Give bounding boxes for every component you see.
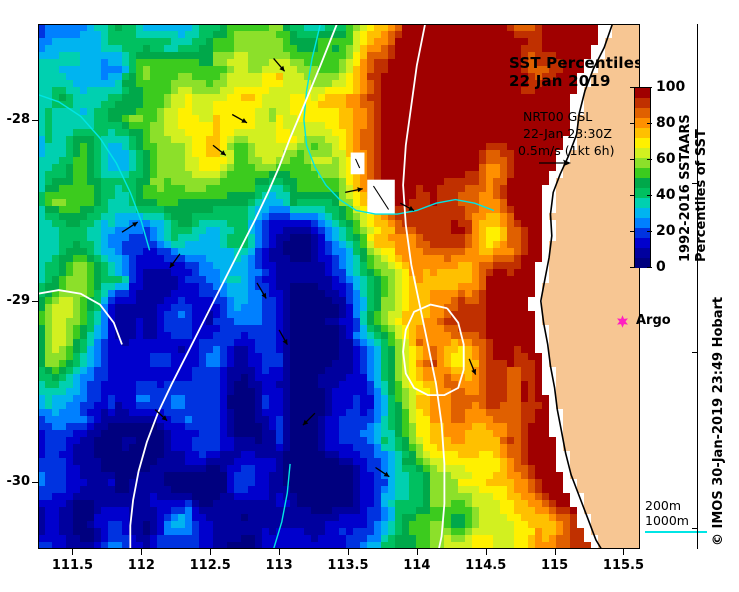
y-axis-tick [32,482,38,483]
colorbar-tick [630,159,635,160]
coastline [541,24,613,549]
colorbar-tick-label: 60 [656,151,675,167]
colorbar-tick-label: 0 [656,259,666,275]
colorbar-tick-label: 100 [656,79,685,95]
contour-1000m [304,24,494,214]
colorbar-segment [635,218,650,228]
colorbar-segment [635,168,650,178]
contour-200m [403,24,444,549]
y-axis-tick-label: -28 [0,112,30,127]
x-axis-tick-label: 113.5 [318,558,378,573]
colorbar-tick-label: 80 [656,115,675,131]
contour-1000m [38,95,150,251]
y-axis-tick-label: -29 [0,293,30,308]
colorbar-tick [647,231,652,232]
colorbar-tick [630,87,635,88]
contour-200m [38,290,122,344]
x-axis-tick [279,549,280,555]
y-axis-tick [32,301,38,302]
contour-200m [403,305,464,396]
colorbar-tick-label: 20 [656,223,675,239]
colorbar-segment [635,108,650,118]
x-axis-tick-label: 112.5 [180,558,240,573]
colorbar-segment [635,238,650,248]
x-axis-tick [210,549,211,555]
x-axis-tick-label: 115.5 [593,558,653,573]
x-axis-tick [141,549,142,555]
sst-percentile-map: SST Percentiles 22 Jan 2019 NRT00 GSL 22… [0,0,739,592]
colorbar-tick [630,195,635,196]
colorbar-tick [647,267,652,268]
colorbar-tick [630,231,635,232]
colorbar [634,87,651,267]
argo-float-star-marker-icon [616,315,629,328]
depth-contour-legend: 200m 1000m [645,498,715,540]
right-axis-rule [697,24,698,549]
x-axis-tick [348,549,349,555]
x-axis-tick [555,549,556,555]
colorbar-tick [647,195,652,196]
colorbar-tick [630,123,635,124]
map-plot-area[interactable]: SST Percentiles 22 Jan 2019 NRT00 GSL 22… [38,24,640,549]
colorbar-segment [635,208,650,218]
colorbar-segment [635,178,650,188]
contour-1000m [274,464,291,549]
y-axis-tick-label: -30 [0,474,30,489]
current-vector-arrow-icon [538,157,572,169]
argo-legend-label: Argo [636,313,671,328]
current-vector-head [357,187,362,192]
colorbar-segment [635,128,650,138]
contour-1000m-lines [38,24,494,549]
annotation-timestamp: 22-Jan 23:30Z [523,126,612,141]
colorbar-segment [635,148,650,158]
x-axis-tick-label: 113 [249,558,309,573]
copyright-credit: © IMOS 30-Jan-2019 23:49 Hobart [711,297,726,546]
contour-200m [130,24,337,549]
annotation-vector-scale: 0.5m/s (1kt 6h) [518,143,614,158]
map-overlay-vectors [38,24,640,549]
colorbar-segment [635,188,650,198]
x-axis-tick [623,549,624,555]
colorbar-segment [635,228,650,238]
right-rule-tick [692,528,698,529]
colorbar-segment [635,138,650,148]
colorbar-label-dataset: 1992-2016 SSTAARS [678,114,693,262]
colorbar-tick [647,123,652,124]
x-axis-tick-label: 112 [111,558,171,573]
x-axis-tick-label: 115 [525,558,585,573]
colorbar-gradient [634,87,651,267]
current-vector-arrows [122,58,476,476]
map-title-line1: SST Percentiles [509,54,640,72]
x-axis-tick-label: 114.5 [456,558,516,573]
y-axis-tick [32,120,38,121]
x-axis-tick [486,549,487,555]
colorbar-segment [635,198,650,208]
colorbar-tick [647,159,652,160]
colorbar-segment [635,88,650,98]
colorbar-tick-label: 40 [656,187,675,203]
x-axis-tick-label: 111.5 [42,558,102,573]
annotation-source: NRT00 GSL [523,109,592,124]
map-title-line2: 22 Jan 2019 [509,72,611,90]
right-rule-tick [692,352,698,353]
right-rule-tick [692,183,698,184]
x-axis-tick [417,549,418,555]
contour-200m-lines [38,24,464,549]
colorbar-tick [647,87,652,88]
colorbar-tick [630,267,635,268]
coastline-path [541,24,613,549]
depth-legend-1000m-label: 1000m [645,513,715,528]
x-axis-tick-label: 114 [387,558,447,573]
colorbar-segment [635,248,650,258]
x-axis-tick [72,549,73,555]
depth-legend-200m-label: 200m [645,498,715,513]
colorbar-segment [635,98,650,108]
argo-legend: Argo [616,313,706,331]
